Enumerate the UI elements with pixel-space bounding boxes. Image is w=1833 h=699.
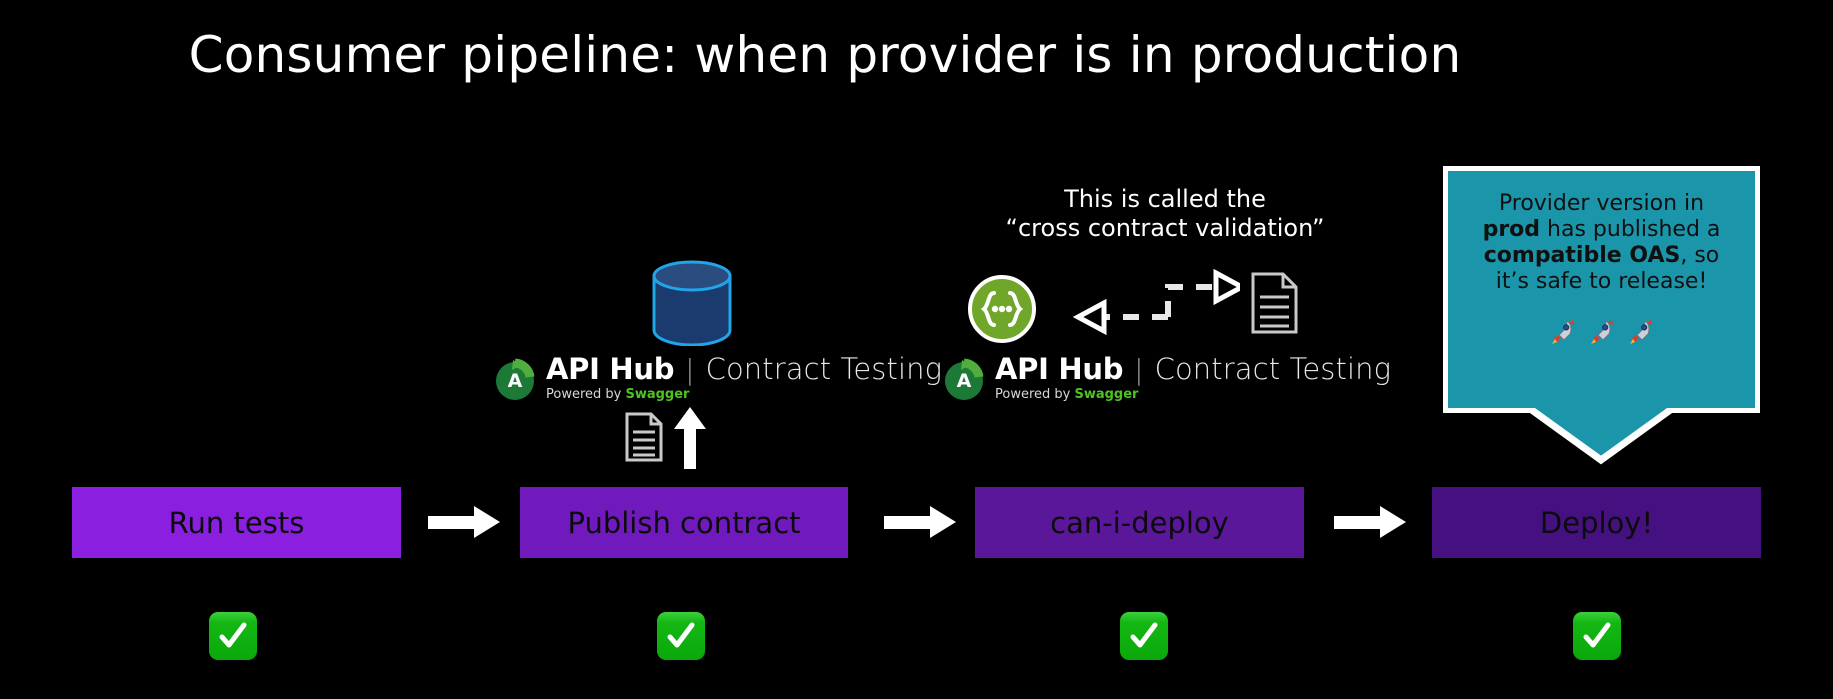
stage-box-publish-contract[interactable]: Publish contract	[520, 487, 848, 558]
cross-contract-caption: This is called the “cross contract valid…	[945, 185, 1385, 244]
stage-label: Run tests	[169, 506, 305, 540]
database-cylinder-icon	[650, 260, 734, 346]
api-hub-badge-letter: A	[496, 362, 534, 400]
stage-label: can-i-deploy	[1050, 506, 1229, 540]
rocket-icon	[1549, 317, 1577, 349]
white-check-mark-icon	[657, 612, 705, 660]
api-hub-powered-by: Powered by Swagger	[995, 387, 1391, 402]
stage-label: Publish contract	[567, 506, 800, 540]
right-arrow-icon	[884, 506, 956, 538]
stage-box-can-i-deploy[interactable]: can-i-deploy	[975, 487, 1304, 558]
powered-by-brand: Swagger	[1074, 387, 1138, 402]
api-hub-brand: API Hub	[995, 355, 1123, 384]
api-hub-separator: |	[685, 356, 694, 384]
api-hub-powered-by: Powered by Swagger	[546, 387, 942, 402]
powered-by-prefix: Powered by	[995, 387, 1074, 402]
right-arrow-icon	[1334, 506, 1406, 538]
callout-text-part2: has published a	[1540, 217, 1720, 242]
api-hub-brand: API Hub	[546, 355, 674, 384]
cross-contract-caption-line2: “cross contract validation”	[945, 214, 1385, 243]
rocket-icon-group	[1470, 317, 1733, 349]
api-hub-mark-icon: A	[944, 357, 988, 401]
callout-bold-oas: compatible OAS	[1484, 243, 1681, 268]
callout-text-part1: Provider version in	[1499, 191, 1704, 216]
up-arrow-icon	[672, 407, 708, 469]
white-check-mark-icon	[1573, 612, 1621, 660]
curly-braces-circle-icon	[968, 275, 1036, 343]
callout-box: Provider version in prod has published a…	[1443, 166, 1760, 413]
api-hub-mark-icon: A	[495, 357, 539, 401]
page-title: Consumer pipeline: when provider is in p…	[0, 26, 1650, 84]
stage-box-run-tests[interactable]: Run tests	[72, 487, 401, 558]
api-hub-badge-letter: A	[945, 362, 983, 400]
callout-text: Provider version in prod has published a…	[1470, 191, 1733, 295]
powered-by-brand: Swagger	[625, 387, 689, 402]
stage-label: Deploy!	[1540, 506, 1653, 540]
api-hub-logo-cross-contract: A API Hub | Contract Testing Powered by …	[944, 355, 1391, 411]
right-arrow-icon	[428, 506, 500, 538]
cross-contract-caption-line1: This is called the	[945, 185, 1385, 214]
white-check-mark-icon	[209, 612, 257, 660]
callout-bold-prod: prod	[1483, 217, 1540, 242]
rocket-icon	[1588, 317, 1616, 349]
document-icon-cross-contract	[1250, 272, 1299, 334]
white-check-mark-icon	[1120, 612, 1168, 660]
stage-box-deploy[interactable]: Deploy!	[1432, 487, 1761, 558]
powered-by-prefix: Powered by	[546, 387, 625, 402]
api-hub-separator: |	[1134, 356, 1143, 384]
rocket-icon	[1627, 317, 1655, 349]
callout-tail	[1443, 408, 1760, 468]
api-hub-logo-publish: A API Hub | Contract Testing Powered by …	[495, 355, 942, 411]
document-icon-publish	[624, 412, 664, 462]
dashed-double-arrow-icon	[1050, 265, 1240, 355]
slide-canvas: Consumer pipeline: when provider is in p…	[0, 0, 1833, 699]
api-hub-product: Contract Testing	[1155, 355, 1392, 384]
api-hub-product: Contract Testing	[706, 355, 943, 384]
